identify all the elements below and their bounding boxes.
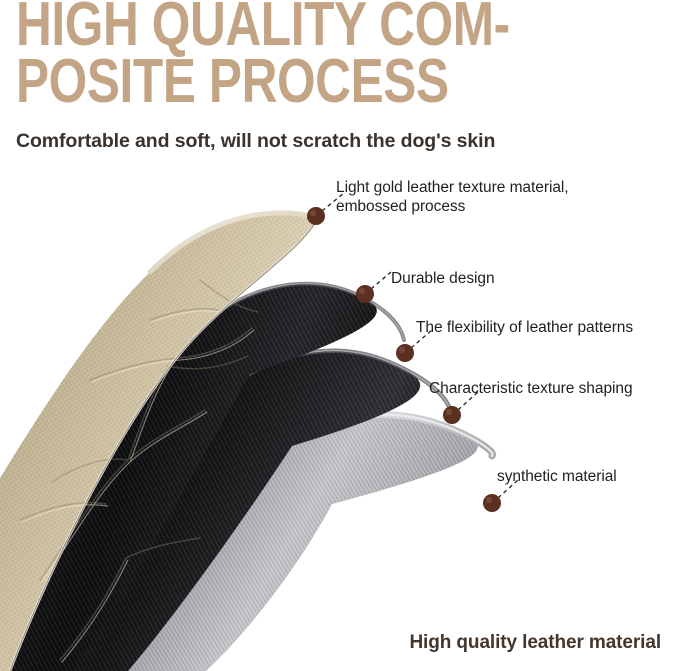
page-subtitle: Comfortable and soft, will not scratch t… (16, 130, 495, 153)
layered-composite-material-illustration (0, 160, 679, 671)
callout-label-characteristic-texture-shaping: Characteristic texture shaping (429, 379, 633, 398)
infographic-page: HIGH QUALITY COM- POSITE PROCESS Comfort… (0, 0, 679, 671)
callout-label-flexibility-leather-patterns: The flexibility of leather patterns (416, 318, 633, 337)
material-layers-svg (0, 160, 679, 671)
callout-label-synthetic-material: synthetic material (497, 467, 617, 486)
callout-label-durable-design: Durable design (391, 269, 495, 288)
page-title: HIGH QUALITY COM- POSITE PROCESS (16, 0, 541, 110)
footer-caption: High quality leather material (409, 632, 661, 654)
callout-label-light-gold-leather: Light gold leather texture material, emb… (336, 178, 569, 216)
